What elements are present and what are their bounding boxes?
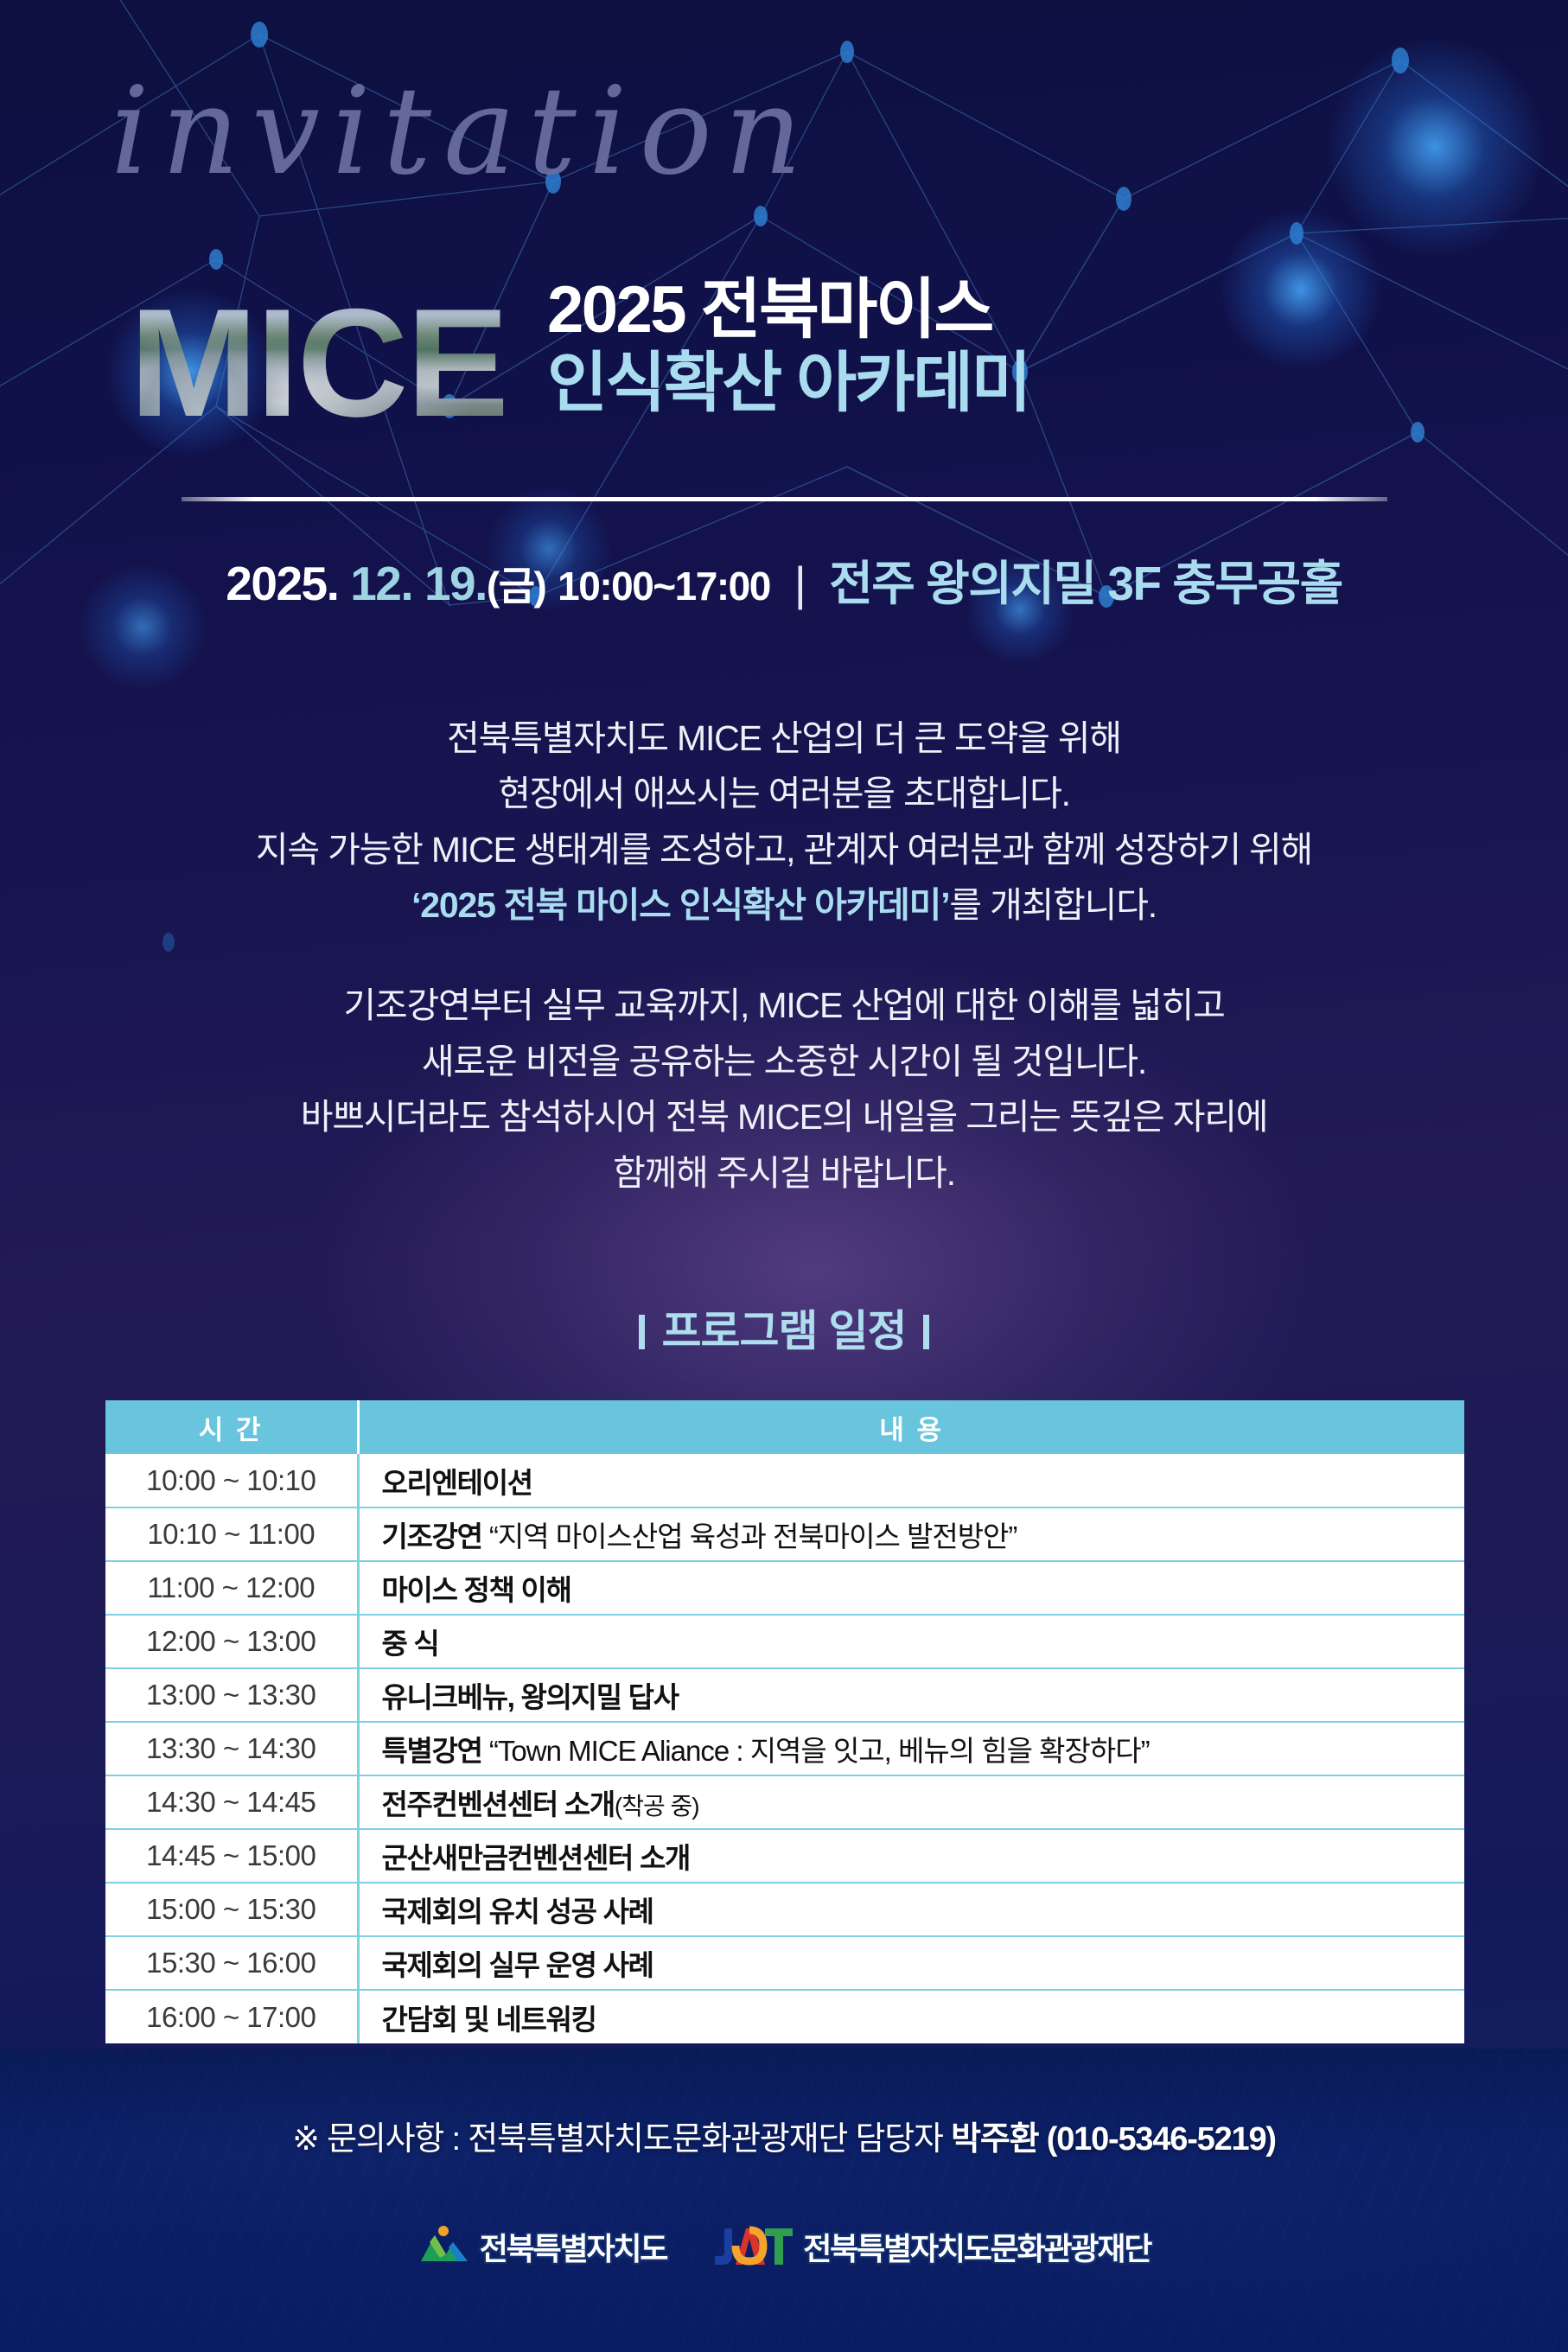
table-row: 15:00 ~ 15:30국제회의 유치 성공 사례 — [105, 1883, 1464, 1936]
schedule-content-subtitle: “지역 마이스산업 육성과 전북마이스 발전방안” — [482, 1520, 1017, 1552]
table-row: 13:30 ~ 14:30특별강연 “Town MICE Aliance : 지… — [105, 1722, 1464, 1775]
schedule-content-cell: 국제회의 유치 성공 사례 — [358, 1883, 1464, 1936]
paragraph-spacer — [0, 933, 1568, 978]
table-row: 10:10 ~ 11:00기조강연 “지역 마이스산업 육성과 전북마이스 발전… — [105, 1507, 1464, 1561]
schedule-content-title: 중 식 — [382, 1628, 439, 1660]
schedule-time-cell: 10:10 ~ 11:00 — [105, 1507, 358, 1561]
jbct-foundation-logo: 전북특별자치도문화관광재단 — [711, 2223, 1151, 2270]
schedule-table-body: 10:00 ~ 10:10오리엔테이션10:10 ~ 11:00기조강연 “지역… — [105, 1454, 1464, 2043]
schedule-content-subtitle: “Town MICE Aliance : 지역을 잇고, 베뉴의 힘을 확장하다… — [482, 1735, 1150, 1767]
table-row: 14:30 ~ 14:45전주컨벤션센터 소개(착공 중) — [105, 1775, 1464, 1829]
jbct-foundation-logo-text: 전북특별자치도문화관광재단 — [803, 2224, 1151, 2269]
contact-prefix: ※ 문의사항 : 전북특별자치도문화관광재단 담당자 — [292, 2121, 951, 2158]
schedule-time-cell: 15:00 ~ 15:30 — [105, 1883, 358, 1936]
schedule-time-cell: 14:45 ~ 15:00 — [105, 1829, 358, 1883]
schedule-time-cell: 14:30 ~ 14:45 — [105, 1775, 358, 1829]
table-row: 15:30 ~ 16:00국제회의 실무 운영 사례 — [105, 1936, 1464, 1990]
table-row: 10:00 ~ 10:10오리엔테이션 — [105, 1454, 1464, 1507]
schedule-content-title: 마이스 정책 이해 — [382, 1574, 571, 1606]
event-title-block: 2025 전북마이스 인식확산 아카데미 — [547, 273, 1029, 429]
schedule-content-title: 군산새만금컨벤션센터 소개 — [382, 1842, 691, 1874]
invite-p2-line2: 새로운 비전을 공유하는 소중한 시간이 될 것입니다. — [0, 1034, 1568, 1089]
table-row: 11:00 ~ 12:00마이스 정책 이해 — [105, 1561, 1464, 1615]
schedule-content-title: 국제회의 실무 운영 사례 — [382, 1949, 653, 1981]
schedule-content-title: 국제회의 유치 성공 사례 — [382, 1896, 653, 1928]
schedule-time-cell: 13:30 ~ 14:30 — [105, 1722, 358, 1775]
table-row: 12:00 ~ 13:00중 식 — [105, 1615, 1464, 1668]
mice-photo-wordmark: MICE — [130, 296, 507, 429]
invite-p2-line3: 바쁘시더라도 참석하시어 전북 MICE의 내일을 그리는 뜻깊은 자리에 — [0, 1089, 1568, 1144]
schedule-table-head: 시 간 내 용 — [105, 1400, 1464, 1454]
schedule-content-cell: 국제회의 실무 운영 사례 — [358, 1936, 1464, 1990]
jeonbuk-province-logo: 전북특별자치도 — [417, 2223, 666, 2270]
brand-row: MICE 2025 전북마이스 인식확산 아카데미 — [130, 273, 1478, 429]
highlight-close-quote: ’ — [940, 885, 949, 925]
glow-node-topright — [1323, 35, 1547, 259]
schedule-time-cell: 12:00 ~ 13:00 — [105, 1615, 358, 1668]
invite-p2-line4: 함께해 주시길 바랍니다. — [0, 1145, 1568, 1201]
schedule-content-title: 전주컨벤션센터 소개 — [382, 1788, 615, 1820]
schedule-time-cell: 10:00 ~ 10:10 — [105, 1454, 358, 1507]
schedule-content-title: 간담회 및 네트워킹 — [382, 2004, 596, 2036]
contact-person-and-phone: 박주환 (010-5346-5219) — [951, 2121, 1276, 2158]
column-header-time: 시 간 — [105, 1400, 358, 1454]
invite-p1-line2: 현장에서 애쓰시는 여러분을 초대합니다. — [0, 766, 1568, 821]
schedule-content-note: (착공 중) — [615, 1793, 699, 1820]
invitation-body: 전북특별자치도 MICE 산업의 더 큰 도약을 위해 현장에서 애쓰시는 여러… — [0, 711, 1568, 1201]
event-day: 12. 19. — [350, 557, 487, 610]
column-header-content: 내 용 — [358, 1400, 1464, 1454]
highlight-open-quote: ‘ — [411, 885, 420, 925]
schedule-time-cell: 15:30 ~ 16:00 — [105, 1936, 358, 1990]
heading-bar-left-icon — [639, 1315, 645, 1349]
academy-name-highlight: 2025 전북 마이스 인식확산 아카데미 — [420, 885, 940, 925]
table-row: 14:45 ~ 15:00군산새만금컨벤션센터 소개 — [105, 1829, 1464, 1883]
program-section-heading: 프로그램 일정 — [0, 1297, 1568, 1359]
event-year: 2025. — [226, 557, 338, 610]
event-title-line-1: 2025 전북마이스 — [547, 273, 1029, 347]
event-weekday: (금) — [487, 564, 545, 609]
schedule-content-title: 특별강연 — [382, 1735, 482, 1767]
invitation-script-wordmark: invitation — [104, 76, 1400, 206]
jeonbuk-province-logo-icon — [417, 2223, 471, 2270]
schedule-content-cell: 간담회 및 네트워킹 — [358, 1990, 1464, 2043]
schedule-content-cell: 마이스 정책 이해 — [358, 1561, 1464, 1615]
event-time: 10:00~17:00 — [558, 564, 770, 609]
schedule-content-cell: 특별강연 “Town MICE Aliance : 지역을 잇고, 베뉴의 힘을… — [358, 1722, 1464, 1775]
schedule-content-title: 유니크베뉴, 왕의지밀 답사 — [382, 1681, 679, 1713]
event-title-line-2: 인식확산 아카데미 — [547, 347, 1029, 420]
table-row: 13:00 ~ 13:30유니크베뉴, 왕의지밀 답사 — [105, 1668, 1464, 1722]
schedule-time-cell: 16:00 ~ 17:00 — [105, 1990, 358, 2043]
schedule-content-cell: 중 식 — [358, 1615, 1464, 1668]
footer-photo-band — [0, 2049, 1568, 2352]
schedule-content-cell: 전주컨벤션센터 소개(착공 중) — [358, 1775, 1464, 1829]
schedule-content-cell: 오리엔테이션 — [358, 1454, 1464, 1507]
schedule-time-cell: 13:00 ~ 13:30 — [105, 1668, 358, 1722]
event-datetime-venue-bar: 2025. 12. 19.(금) 10:00~17:00 | 전주 왕의지밀 3… — [0, 545, 1568, 614]
invite-p1-line1: 전북특별자치도 MICE 산업의 더 큰 도약을 위해 — [0, 711, 1568, 766]
schedule-content-title: 오리엔테이션 — [382, 1467, 532, 1499]
highlight-tail: 를 개최합니다. — [949, 885, 1157, 925]
event-venue: 전주 왕의지밀 3F 충무공홀 — [829, 557, 1342, 610]
program-schedule-table: 시 간 내 용 10:00 ~ 10:10오리엔테이션10:10 ~ 11:00… — [105, 1400, 1464, 2043]
invite-p2-line1: 기조강연부터 실무 교육까지, MICE 산업에 대한 이해를 넓히고 — [0, 978, 1568, 1033]
schedule-time-cell: 11:00 ~ 12:00 — [105, 1561, 358, 1615]
schedule-content-cell: 기조강연 “지역 마이스산업 육성과 전북마이스 발전방안” — [358, 1507, 1464, 1561]
organizer-logo-row: 전북특별자치도 전북특별자치도문화관광재단 — [0, 2223, 1568, 2270]
jbct-foundation-logo-icon — [711, 2223, 794, 2270]
header-divider — [182, 497, 1387, 501]
schedule-content-cell: 유니크베뉴, 왕의지밀 답사 — [358, 1668, 1464, 1722]
program-heading-text: 프로그램 일정 — [662, 1307, 907, 1355]
schedule-content-title: 기조강연 — [382, 1520, 482, 1552]
schedule-header-row: 시 간 내 용 — [105, 1400, 1464, 1454]
table-row: 16:00 ~ 17:00간담회 및 네트워킹 — [105, 1990, 1464, 2043]
schedule-content-cell: 군산새만금컨벤션센터 소개 — [358, 1829, 1464, 1883]
jeonbuk-province-logo-text: 전북특별자치도 — [480, 2224, 666, 2269]
poster-root: invitation MICE 2025 전북마이스 인식확산 아카데미 202… — [0, 0, 1568, 2352]
contact-information: ※ 문의사항 : 전북특별자치도문화관광재단 담당자 박주환 (010-5346… — [0, 2112, 1568, 2159]
invite-p1-line3: 지속 가능한 MICE 생태계를 조성하고, 관계자 여러분과 함께 성장하기 … — [0, 822, 1568, 877]
invite-highlight-line: ‘2025 전북 마이스 인식확산 아카데미’를 개최합니다. — [0, 877, 1568, 933]
heading-bar-right-icon — [923, 1315, 929, 1349]
invitation-script-text: invitation — [111, 76, 814, 202]
datebar-separator: | — [782, 557, 818, 610]
